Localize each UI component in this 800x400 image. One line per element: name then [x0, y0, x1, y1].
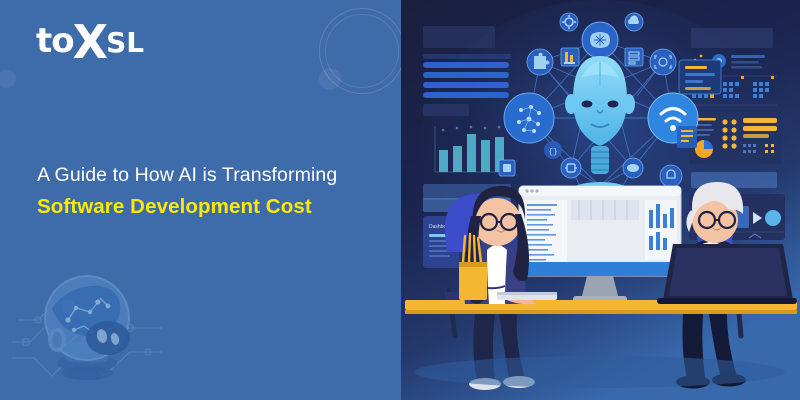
- refresh-sync-icon: [561, 158, 581, 178]
- svg-text:{}: {}: [548, 148, 558, 157]
- ai-software-development-illustration: Dashboard: [401, 0, 800, 400]
- report-metrics-panel: [689, 112, 781, 164]
- cloud-icon: [625, 13, 643, 31]
- floor-shadow: [415, 356, 785, 388]
- headline-line-1: A Guide to How AI is Transforming: [37, 163, 377, 187]
- left-text-panel: toXSL A Guide to How AI is Transforming …: [0, 0, 401, 400]
- headline-line-2: Software Development Cost: [37, 194, 377, 221]
- logo-text-to: to: [36, 21, 74, 61]
- logo-text-x: X: [73, 15, 107, 69]
- data-cluster-icon: [504, 93, 554, 143]
- laptop: [657, 244, 797, 304]
- gear-settings-icon: [560, 13, 578, 31]
- logo-text-sl: SL: [106, 26, 144, 59]
- code-bracket-icon: {}: [544, 141, 562, 159]
- brain-chip-icon: [582, 22, 618, 58]
- glow-dot-decor-icon: [0, 70, 16, 88]
- shield-lock-icon: [660, 165, 682, 187]
- headline-block: A Guide to How AI is Transforming Softwa…: [37, 163, 377, 221]
- face-recognition-icon: [650, 49, 676, 75]
- mouse-pointer-icon: [623, 158, 643, 178]
- blog-banner: toXSL A Guide to How AI is Transforming …: [0, 0, 800, 400]
- ai-globe-watermark-icon: [12, 246, 162, 386]
- toxsl-logo[interactable]: toXSL: [36, 24, 144, 58]
- keyboard: [497, 292, 557, 300]
- server-icon: [677, 126, 697, 148]
- cpu-node-icon: [679, 60, 721, 94]
- robot-arm-icon: [561, 48, 579, 66]
- puzzle-icon: [527, 49, 553, 75]
- glow-dot-decor-icon: [319, 68, 341, 90]
- chip-icon: [499, 160, 515, 176]
- database-icon: [625, 48, 643, 66]
